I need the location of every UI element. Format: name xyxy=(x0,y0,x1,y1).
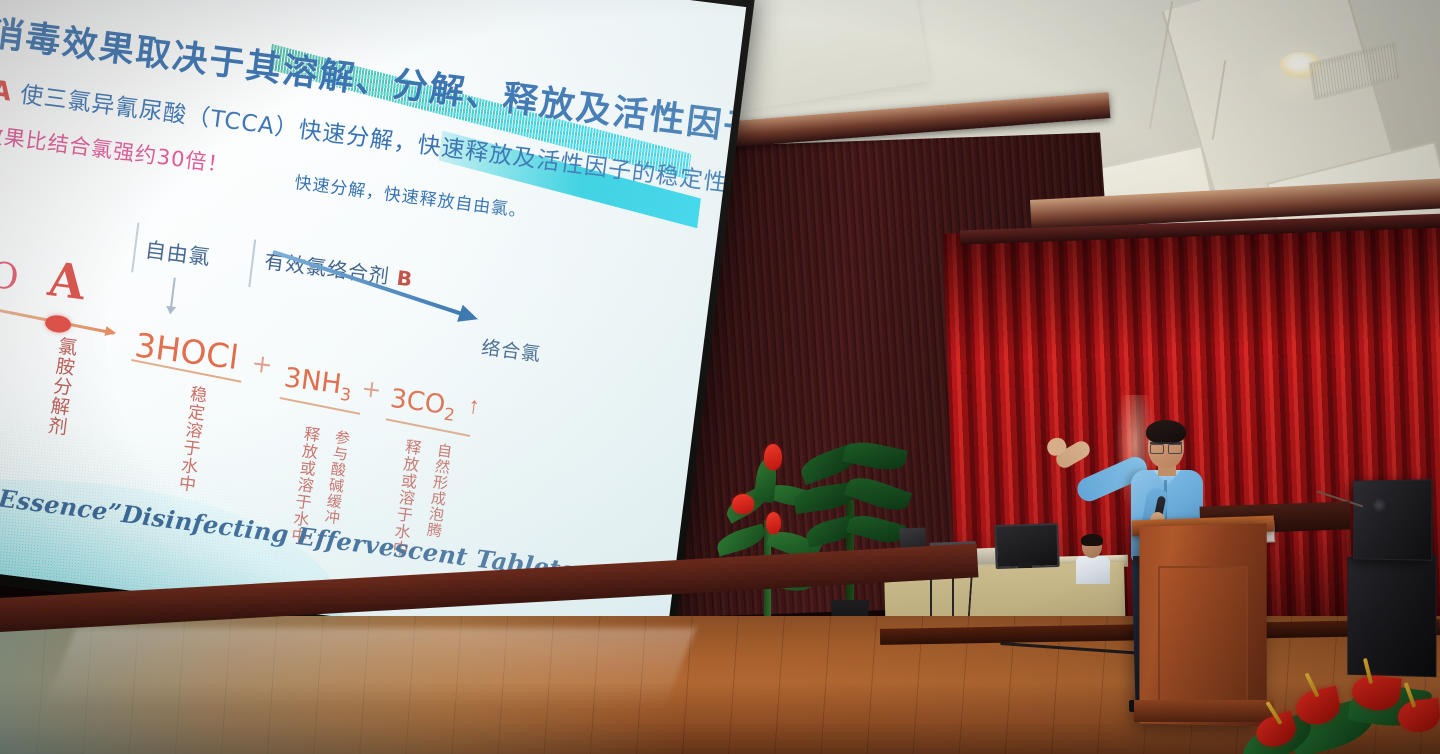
divider-line xyxy=(248,239,256,287)
water-o: O xyxy=(0,255,21,299)
speaker-cone xyxy=(1372,498,1386,512)
nh3-text: 3NH xyxy=(282,362,343,400)
arrow-down-icon xyxy=(170,278,176,308)
seated-person-hair xyxy=(1081,534,1103,546)
co2-text: 3CO xyxy=(388,384,446,421)
catalyst-a-letter: A xyxy=(45,252,88,311)
eyeglasses-icon xyxy=(1150,442,1182,452)
agent-a-letter: A xyxy=(0,75,14,107)
conference-hall-photo: 消毒效果取决于其溶解、分解、释放及活性因子的稳定性 剂 A 使三氯异氰尿酸（TC… xyxy=(0,0,1440,754)
plus-sign: + xyxy=(360,374,383,404)
podium-base xyxy=(1134,700,1274,722)
red-dot-marker xyxy=(44,314,72,334)
co2-note-2: 自然形成泡腾 xyxy=(424,442,452,539)
water-formula: 6H2O xyxy=(0,246,21,304)
slide-line-3-blue: 快速分解，快速释放自由氯。 xyxy=(293,168,528,222)
co2-sub: 2 xyxy=(443,405,456,426)
pa-speaker-top xyxy=(1353,479,1432,561)
floor-specular-reflection xyxy=(44,628,696,708)
free-chlorine-label: 自由氯 xyxy=(143,234,212,272)
ceiling-seam xyxy=(1149,1,1174,129)
plus-sign: + xyxy=(250,348,274,379)
nh3-sub: 3 xyxy=(339,385,352,406)
red-flower xyxy=(732,494,754,514)
presenter-hair xyxy=(1146,420,1186,444)
seated-person xyxy=(1076,536,1110,580)
agent-b-letter: B xyxy=(395,266,414,292)
red-flower xyxy=(766,512,781,534)
seated-person-body xyxy=(1076,556,1110,584)
podium-front-panel xyxy=(1158,566,1248,720)
projection-screen: 消毒效果取决于其溶解、分解、释放及活性因子的稳定性 剂 A 使三氯异氰尿酸（TC… xyxy=(0,0,746,658)
presentation-slide: 消毒效果取决于其溶解、分解、释放及活性因子的稳定性 剂 A 使三氯异氰尿酸（TC… xyxy=(0,0,746,658)
monitor-stand xyxy=(1018,562,1032,568)
divider-line xyxy=(131,223,139,273)
up-arrow-icon: ↑ xyxy=(466,392,481,420)
pa-speaker-bottom xyxy=(1347,555,1436,678)
red-flower xyxy=(764,444,782,470)
complexed-chlorine-label: 络合氯 xyxy=(480,333,543,367)
agent-b-label: 有效氯络合剂 B xyxy=(263,245,415,293)
